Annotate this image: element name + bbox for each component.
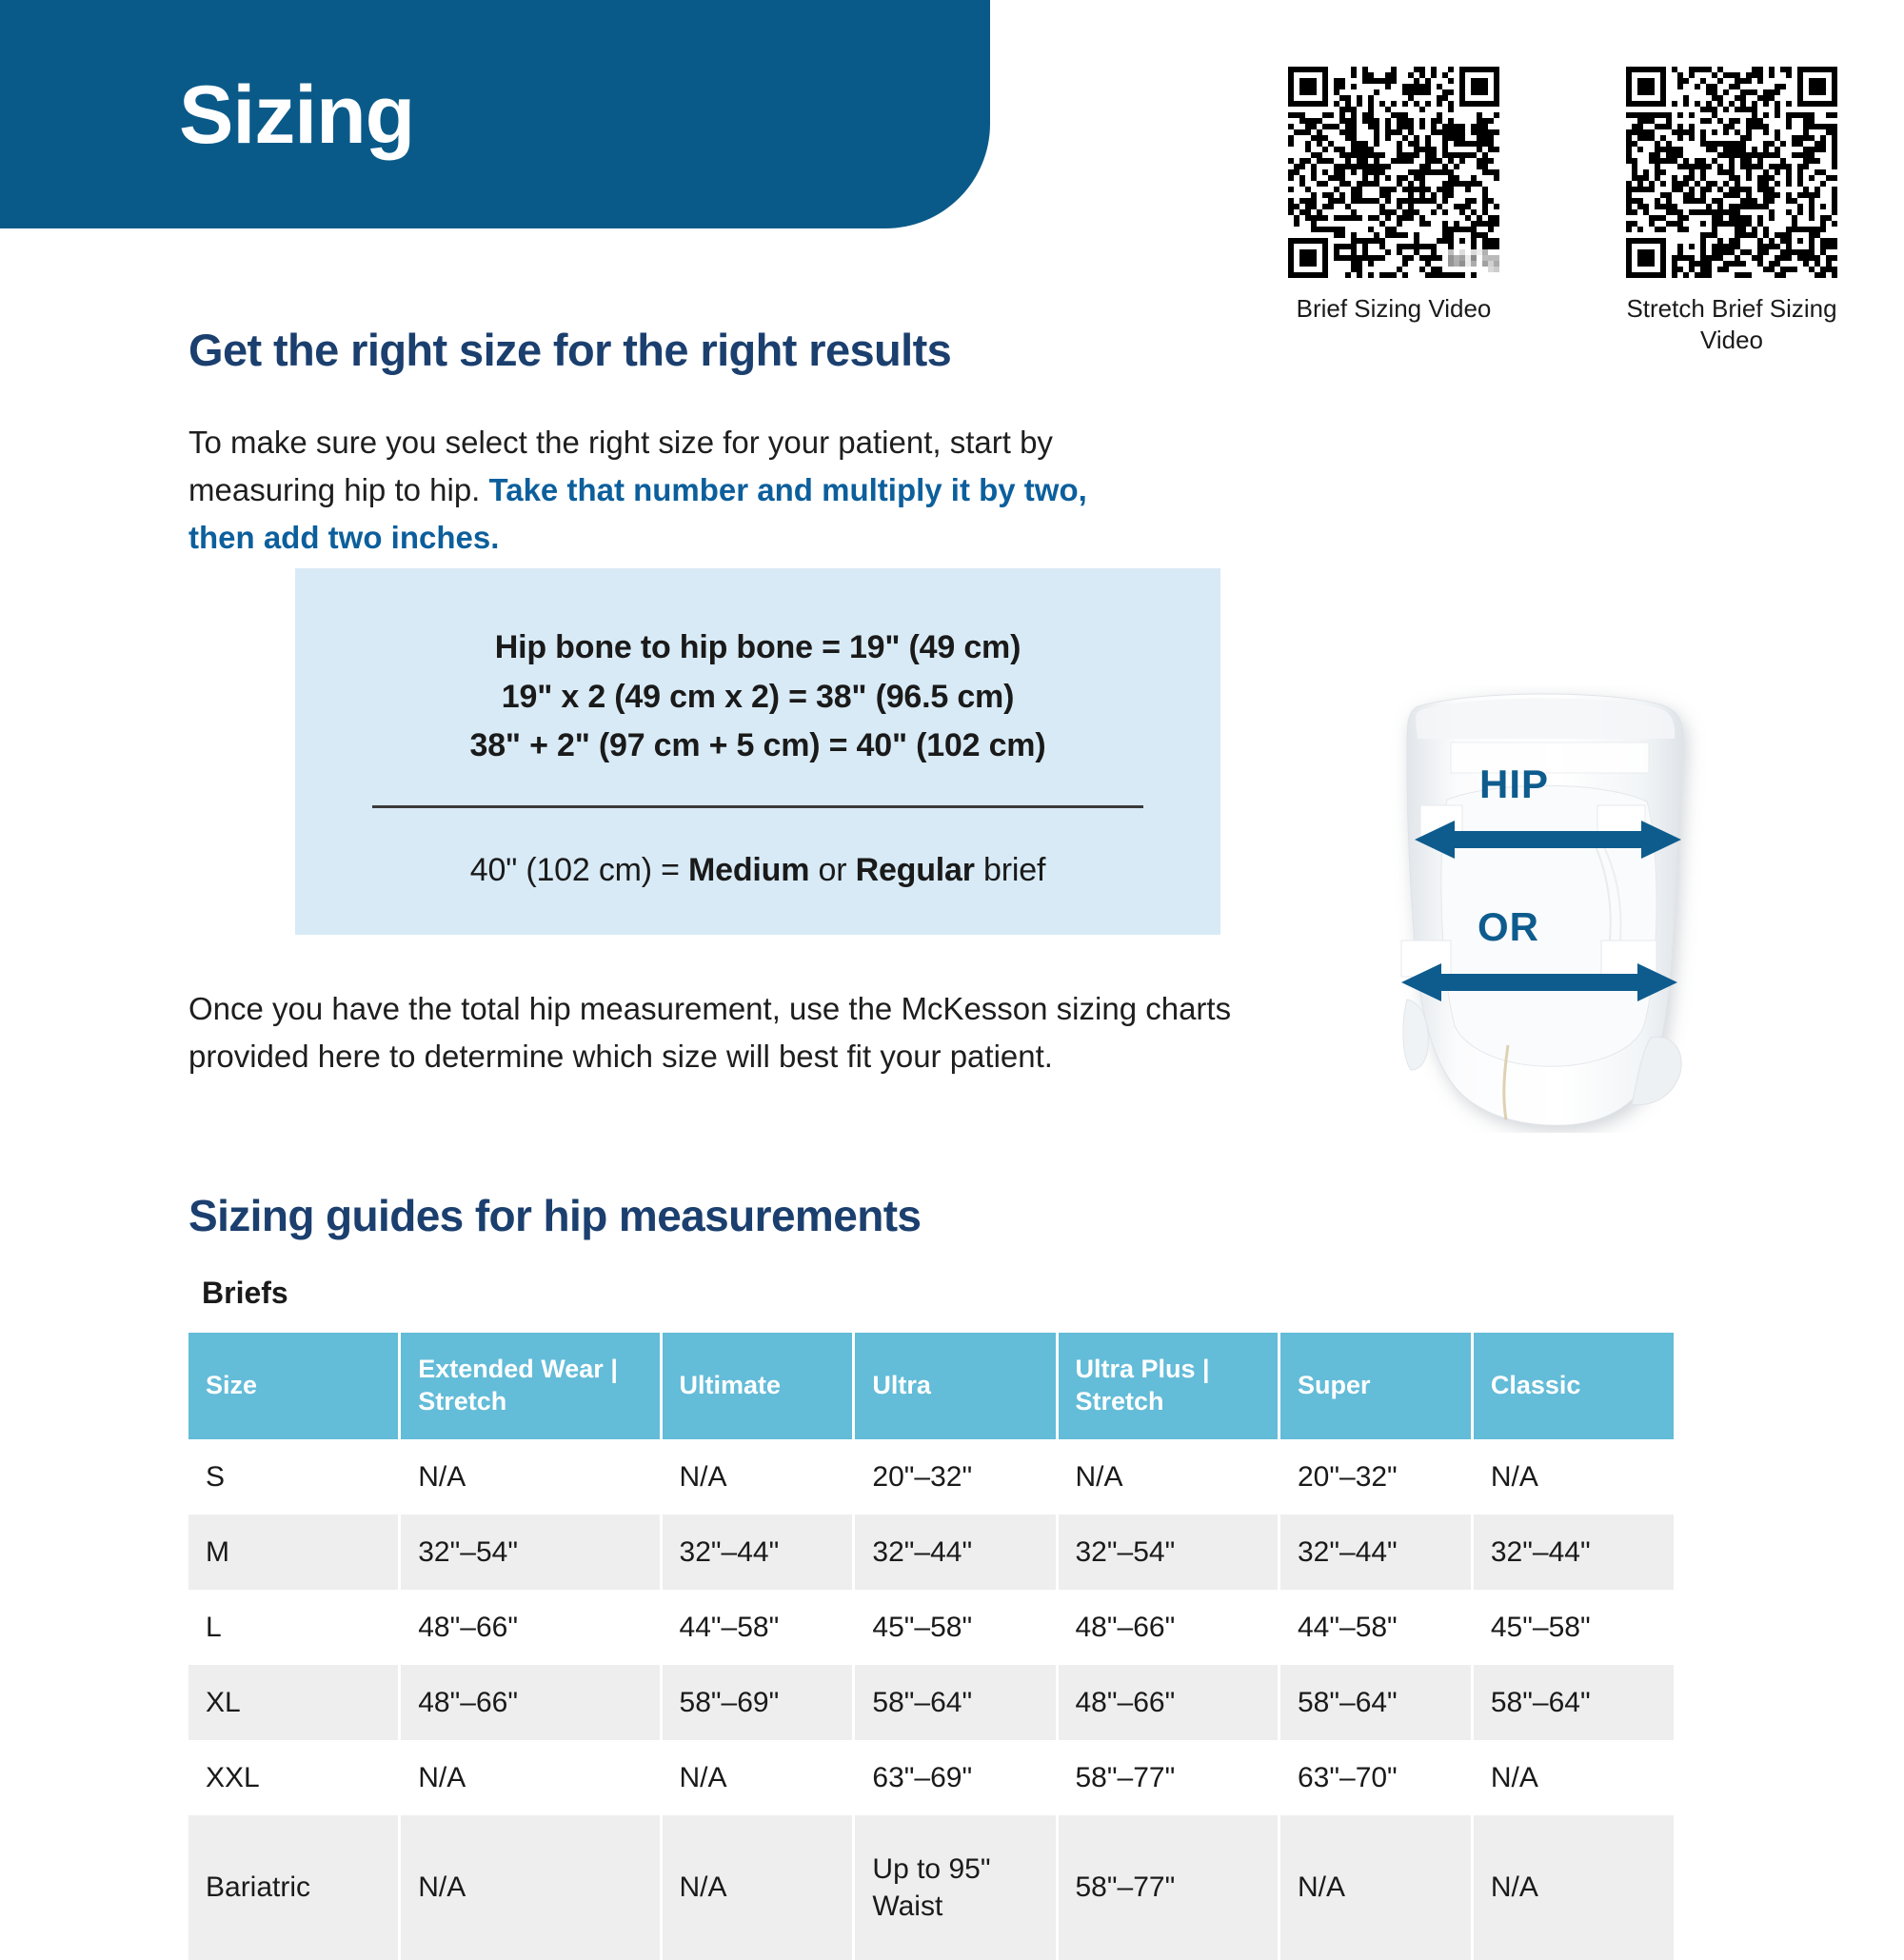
cell-value: 32"–44" <box>854 1515 1057 1590</box>
column-header-extended-wear-stretch: Extended Wear | Stretch <box>400 1333 661 1439</box>
cell-value: N/A <box>661 1439 854 1515</box>
or-label: OR <box>1478 904 1539 950</box>
qr-block-stretch-brief-sizing-video[interactable]: Stretch Brief Sizing Video <box>1607 67 1856 357</box>
calc-result-size-b: Regular <box>856 852 975 888</box>
cell-value: 32"–44" <box>1472 1515 1674 1590</box>
cell-value: N/A <box>1279 1815 1472 1960</box>
cell-value: 63"–70" <box>1279 1740 1472 1815</box>
cell-value: 58"–64" <box>1472 1665 1674 1740</box>
cell-value: N/A <box>1472 1439 1674 1515</box>
hip-label: HIP <box>1479 762 1549 807</box>
column-header-classic: Classic <box>1472 1333 1674 1439</box>
table-row: XL48"–66"58"–69"58"–64"48"–66"58"–64"58"… <box>188 1665 1674 1740</box>
table-section-heading: Sizing guides for hip measurements <box>188 1190 921 1241</box>
calc-result-size-a: Medium <box>688 852 809 888</box>
cell-size: S <box>188 1439 400 1515</box>
cell-value: N/A <box>1057 1439 1279 1515</box>
table-header-row: Size Extended Wear | Stretch Ultimate Ul… <box>188 1333 1674 1439</box>
qr-caption: Stretch Brief Sizing Video <box>1607 293 1856 357</box>
cell-value: N/A <box>661 1815 854 1960</box>
cell-value: 20"–32" <box>1279 1439 1472 1515</box>
header-banner: Sizing <box>0 0 990 228</box>
section-heading: Get the right size for the right results <box>188 324 951 376</box>
cell-value: 48"–66" <box>1057 1665 1279 1740</box>
cell-value: N/A <box>1472 1815 1674 1960</box>
second-paragraph: Once you have the total hip measurement,… <box>188 985 1312 1080</box>
column-header-ultra-plus-stretch: Ultra Plus | Stretch <box>1057 1333 1279 1439</box>
qr-code-icon[interactable] <box>1626 67 1837 278</box>
cell-size: XL <box>188 1665 400 1740</box>
column-header-ultra: Ultra <box>854 1333 1057 1439</box>
cell-value: 58"–77" <box>1057 1740 1279 1815</box>
calc-line-3: 38" + 2" (97 cm + 5 cm) = 40" (102 cm) <box>295 722 1220 771</box>
cell-value: 45"–58" <box>854 1590 1057 1665</box>
qr-caption: Brief Sizing Video <box>1270 293 1517 325</box>
cell-value: N/A <box>400 1740 661 1815</box>
product-illustration: HIP OR <box>1363 685 1725 1133</box>
calc-result-prefix: 40" (102 cm) = <box>470 852 688 888</box>
cell-value: 44"–58" <box>661 1590 854 1665</box>
table-row: BariatricN/AN/AUp to 95" Waist58"–77"N/A… <box>188 1815 1674 1960</box>
cell-size: Bariatric <box>188 1815 400 1960</box>
cell-value: 58"–69" <box>661 1665 854 1740</box>
cell-value: Up to 95" Waist <box>854 1815 1057 1960</box>
calc-result-suffix: brief <box>975 852 1045 888</box>
intro-paragraph: To make sure you select the right size f… <box>188 419 1140 562</box>
cell-size: M <box>188 1515 400 1590</box>
calculation-example-box: Hip bone to hip bone = 19" (49 cm) 19" x… <box>295 568 1220 935</box>
table-body: SN/AN/A20"–32"N/A20"–32"N/AM32"–54"32"–4… <box>188 1439 1674 1960</box>
cell-value: N/A <box>661 1740 854 1815</box>
calc-result: 40" (102 cm) = Medium or Regular brief <box>295 852 1220 889</box>
column-header-super: Super <box>1279 1333 1472 1439</box>
or-double-arrow-icon <box>1401 961 1677 1003</box>
cell-value: 48"–66" <box>400 1665 661 1740</box>
table-subheading: Briefs <box>202 1276 288 1311</box>
cell-value: N/A <box>1472 1740 1674 1815</box>
hip-double-arrow-icon <box>1415 819 1681 861</box>
table-row: L48"–66"44"–58"45"–58"48"–66"44"–58"45"–… <box>188 1590 1674 1665</box>
cell-value: 20"–32" <box>854 1439 1057 1515</box>
cell-value: 63"–69" <box>854 1740 1057 1815</box>
cell-value: 48"–66" <box>400 1590 661 1665</box>
cell-value: N/A <box>400 1815 661 1960</box>
briefs-sizing-table: Size Extended Wear | Stretch Ultimate Ul… <box>188 1333 1674 1960</box>
table-header: Size Extended Wear | Stretch Ultimate Ul… <box>188 1333 1674 1439</box>
qr-block-brief-sizing-video[interactable]: Brief Sizing Video <box>1270 67 1517 325</box>
cell-value: 58"–64" <box>854 1665 1057 1740</box>
cell-value: 32"–44" <box>1279 1515 1472 1590</box>
cell-value: 45"–58" <box>1472 1590 1674 1665</box>
table-row: M32"–54"32"–44"32"–44"32"–54"32"–44"32"–… <box>188 1515 1674 1590</box>
table-row: SN/AN/A20"–32"N/A20"–32"N/A <box>188 1439 1674 1515</box>
adult-brief-image <box>1363 685 1725 1133</box>
cell-size: XXL <box>188 1740 400 1815</box>
cell-size: L <box>188 1590 400 1665</box>
cell-value: 32"–54" <box>400 1515 661 1590</box>
table-row: XXLN/AN/A63"–69"58"–77"63"–70"N/A <box>188 1740 1674 1815</box>
column-header-size: Size <box>188 1333 400 1439</box>
cell-value: 48"–66" <box>1057 1590 1279 1665</box>
column-header-ultimate: Ultimate <box>661 1333 854 1439</box>
cell-value: N/A <box>400 1439 661 1515</box>
calc-line-2: 19" x 2 (49 cm x 2) = 38" (96.5 cm) <box>295 673 1220 723</box>
page-title: Sizing <box>179 74 414 156</box>
cell-value: 58"–64" <box>1279 1665 1472 1740</box>
calc-divider <box>372 805 1143 808</box>
calc-result-joiner: or <box>809 852 855 888</box>
cell-value: 58"–77" <box>1057 1815 1279 1960</box>
calc-line-1: Hip bone to hip bone = 19" (49 cm) <box>295 624 1220 673</box>
cell-value: 32"–54" <box>1057 1515 1279 1590</box>
cell-value: 32"–44" <box>661 1515 854 1590</box>
cell-value: 44"–58" <box>1279 1590 1472 1665</box>
qr-code-icon[interactable] <box>1288 67 1499 278</box>
